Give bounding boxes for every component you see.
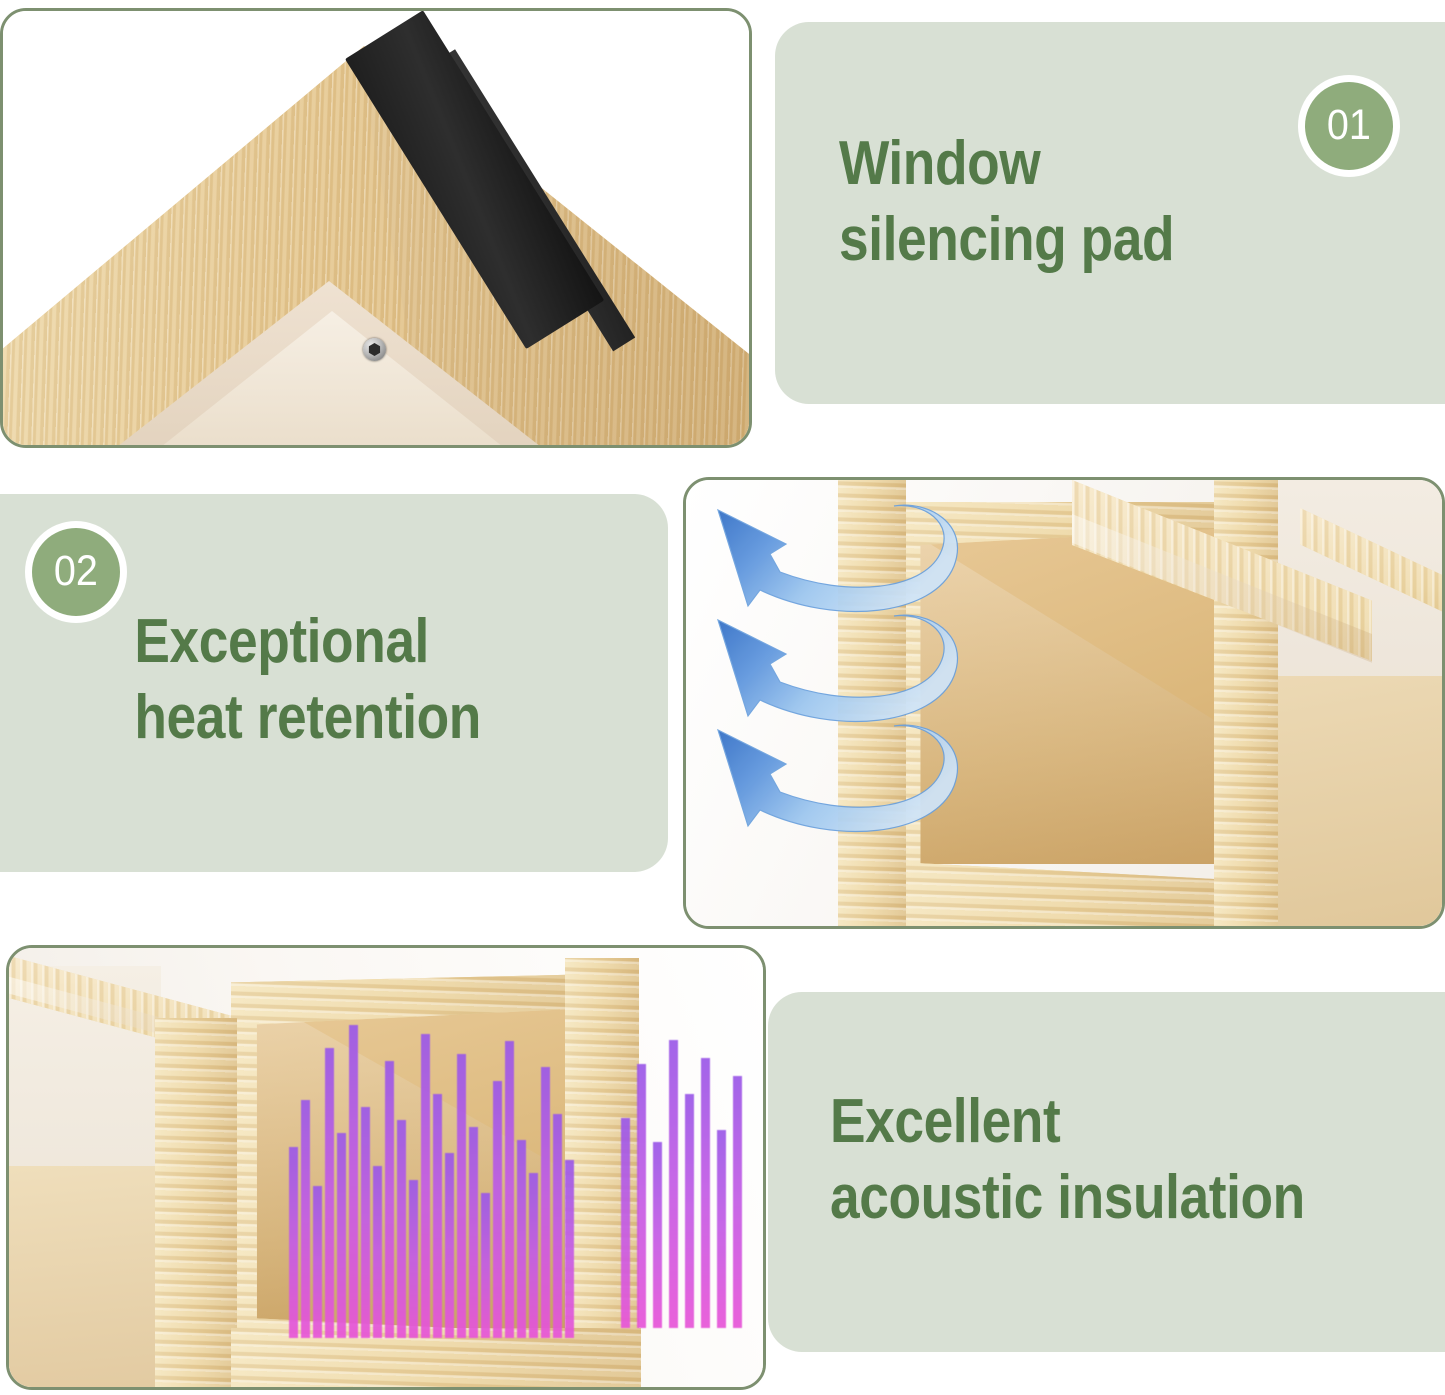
screw-icon: [363, 338, 386, 361]
sound-wave-bar: [717, 1130, 726, 1328]
sound-wave-bar: [653, 1142, 662, 1328]
sound-wave-bar: [337, 1133, 346, 1338]
sound-wave-bar: [621, 1118, 630, 1328]
sound-wave-bar: [385, 1061, 394, 1338]
sound-wave-bar: [349, 1025, 358, 1339]
sound-wave-bar: [289, 1147, 298, 1338]
floor-board: [9, 1166, 169, 1387]
feature-headline-02: Exceptional heat retention: [134, 604, 616, 755]
sound-wave-bar: [325, 1048, 334, 1338]
window-silencing-pad-photo: [0, 8, 752, 448]
badge-number-01: 01: [1327, 101, 1371, 150]
feature-headline-03: Excellent acoustic insulation: [830, 1084, 1346, 1235]
sound-wave-bar: [445, 1153, 454, 1338]
sound-wave-bar: [397, 1120, 406, 1338]
sound-wave-bar: [373, 1166, 382, 1338]
sound-wave-bar: [433, 1094, 442, 1338]
feature-number-badge-02: 02: [32, 528, 120, 616]
sound-wave-bar: [529, 1173, 538, 1338]
sound-wave-bar: [541, 1067, 550, 1338]
sound-wave-bar: [457, 1054, 466, 1338]
infographic-canvas: 01 Window silencing pad Exceptional heat…: [0, 0, 1445, 1395]
sound-wave-bar: [313, 1186, 322, 1338]
floor-board: [1272, 676, 1442, 926]
sound-waves-outside: [621, 1028, 751, 1328]
sound-wave-bar: [469, 1127, 478, 1338]
heat-retention-photo: [683, 477, 1445, 929]
sound-wave-bar: [301, 1100, 310, 1338]
sound-wave-bar: [421, 1034, 430, 1338]
sound-wave-bar: [481, 1193, 490, 1338]
sound-wave-bar: [493, 1081, 502, 1338]
sound-wave-bar: [669, 1040, 678, 1328]
sound-wave-bar: [517, 1140, 526, 1338]
sound-waves-inside: [289, 1008, 589, 1338]
sound-wave-bar: [565, 1160, 574, 1338]
left-post: [155, 1018, 237, 1387]
sound-wave-bar: [733, 1076, 742, 1328]
feature-card-03: 03 Excellent acoustic insulation: [768, 992, 1445, 1352]
sound-wave-bar: [701, 1058, 710, 1328]
feature-card-01: 01 Window silencing pad: [775, 22, 1445, 404]
sound-wave-bar: [361, 1107, 370, 1338]
sound-wave-bar: [685, 1094, 694, 1328]
heat-flow-arrows: [708, 498, 1048, 898]
acoustic-insulation-photo: [6, 945, 766, 1390]
feature-headline-01: Window silencing pad: [839, 126, 1321, 277]
sound-wave-bar: [637, 1064, 646, 1328]
badge-number-02: 02: [54, 547, 98, 596]
sound-wave-bar: [505, 1041, 514, 1338]
sound-wave-bar: [409, 1180, 418, 1338]
sound-wave-bar: [553, 1114, 562, 1338]
